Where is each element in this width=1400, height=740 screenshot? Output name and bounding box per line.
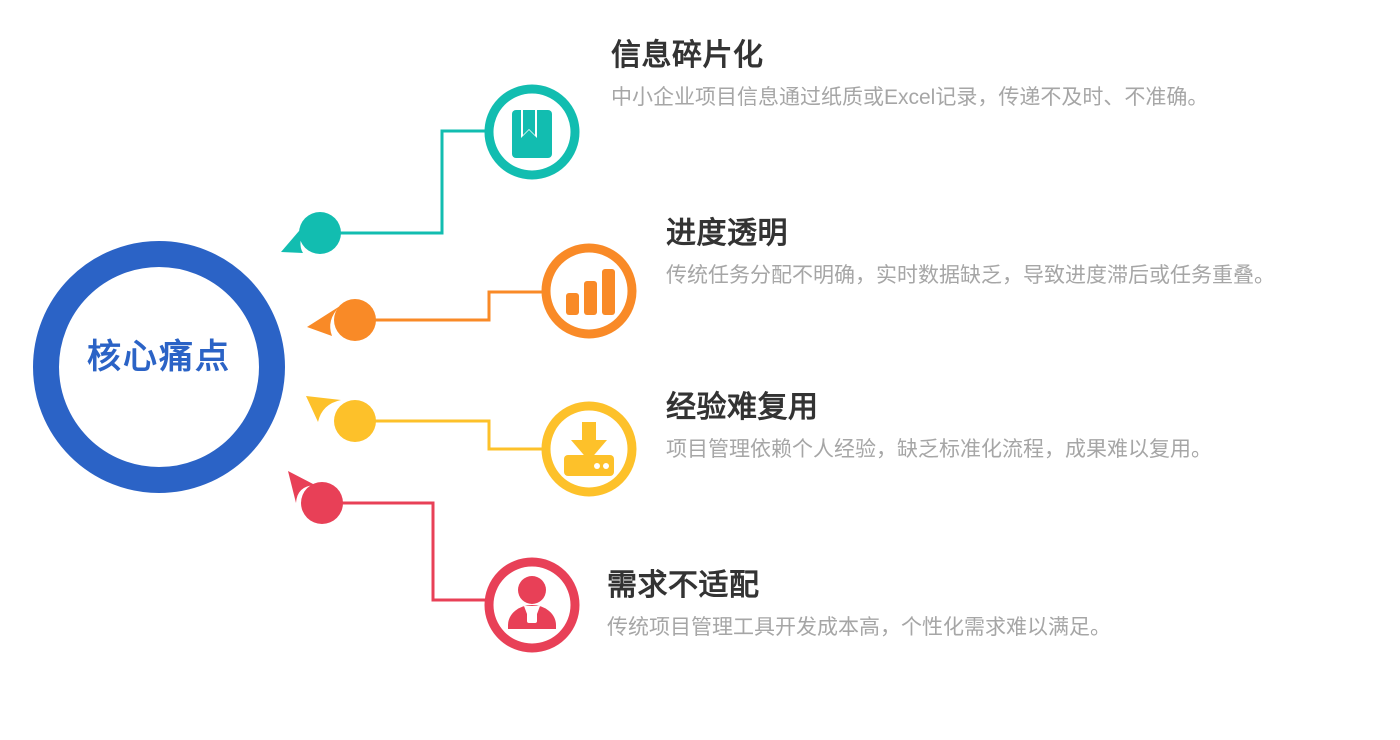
item-desc-3: 项目管理依赖个人经验，缺乏标准化流程，成果难以复用。 (666, 433, 1338, 467)
item-text-block-4: 需求不适配 传统项目管理工具开发成本高，个性化需求难以满足。 (607, 568, 1307, 645)
connector-line-3 (373, 421, 545, 449)
item-text-block-1: 信息碎片化 中小企业项目信息通过纸质或Excel记录，传递不及时、不准确。 (611, 38, 1311, 115)
item-title-2: 进度透明 (666, 216, 1338, 251)
hub-label: 核心痛点 (34, 340, 284, 374)
icon-circle-1[interactable] (489, 89, 575, 175)
connector-line-1 (337, 131, 487, 233)
connector-dot-1 (299, 212, 341, 254)
infographic-canvas: 核心痛点 信息碎片化 中小企业项目信息通过纸质或Excel记录，传递不及时、不准… (0, 0, 1400, 740)
connector-dot-3 (334, 400, 376, 442)
bar-chart-icon (566, 269, 615, 315)
item-title-3: 经验难复用 (666, 390, 1338, 425)
item-title-4: 需求不适配 (607, 568, 1307, 603)
item-desc-4: 传统项目管理工具开发成本高，个性化需求难以满足。 (607, 611, 1307, 645)
icon-circle-3[interactable] (546, 406, 632, 492)
connector-line-4 (340, 503, 487, 600)
item-desc-2: 传统任务分配不明确，实时数据缺乏，导致进度滞后或任务重叠。 (666, 259, 1338, 293)
book-bookmark-icon (512, 110, 552, 158)
item-text-block-2: 进度透明 传统任务分配不明确，实时数据缺乏，导致进度滞后或任务重叠。 (666, 216, 1338, 293)
user-person-icon (508, 576, 556, 629)
item-desc-1: 中小企业项目信息通过纸质或Excel记录，传递不及时、不准确。 (611, 81, 1311, 115)
connector-dot-4 (301, 482, 343, 524)
icon-circle-4[interactable] (489, 562, 575, 648)
connector-line-2 (373, 292, 545, 320)
connector-dot-2 (334, 299, 376, 341)
item-title-1: 信息碎片化 (611, 38, 1311, 73)
item-text-block-3: 经验难复用 项目管理依赖个人经验，缺乏标准化流程，成果难以复用。 (666, 390, 1338, 467)
icon-circle-2[interactable] (546, 248, 632, 334)
download-inbox-icon (564, 422, 614, 476)
